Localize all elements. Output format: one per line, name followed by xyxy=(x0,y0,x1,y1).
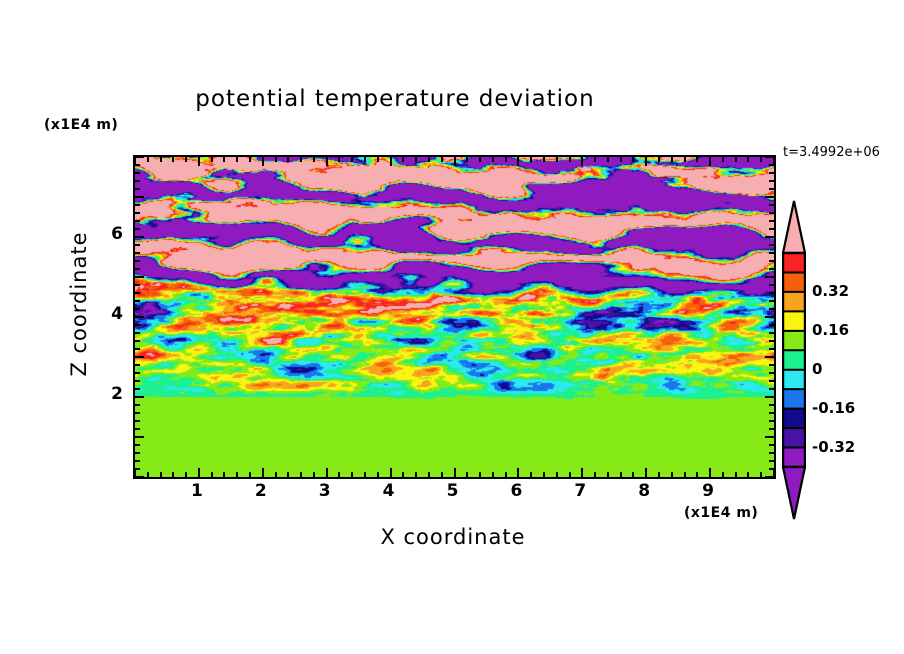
x-tick-label: 4 xyxy=(374,481,404,501)
colorbar-tick-label: 0.16 xyxy=(812,321,849,339)
colorbar[interactable] xyxy=(782,200,806,520)
y-tick-label: 2 xyxy=(93,384,123,404)
colorbar-tick-label: -0.16 xyxy=(812,399,855,417)
x-axis-unit-label: (x1E4 m) xyxy=(684,505,758,521)
y-tick-label: 4 xyxy=(93,304,123,324)
y-axis-unit-label: (x1E4 m) xyxy=(44,117,118,133)
x-tick-label: 5 xyxy=(438,481,468,501)
x-tick-label: 3 xyxy=(310,481,340,501)
x-axis-title: X coordinate xyxy=(253,525,653,549)
x-tick-label: 2 xyxy=(246,481,276,501)
page-title: potential temperature deviation xyxy=(0,86,790,112)
colorbar-tick-label: -0.32 xyxy=(812,438,855,456)
x-tick-label: 8 xyxy=(629,481,659,501)
time-stamp-label: t=3.4992e+06 xyxy=(783,145,880,160)
contour-field-canvas xyxy=(135,157,774,477)
x-tick-label: 6 xyxy=(501,481,531,501)
x-tick-label: 7 xyxy=(565,481,595,501)
x-tick-label: 9 xyxy=(693,481,723,501)
contour-plot-area[interactable] xyxy=(133,155,776,479)
y-tick-label: 6 xyxy=(93,224,123,244)
x-tick-label: 1 xyxy=(182,481,212,501)
colorbar-tick-label: 0.32 xyxy=(812,282,849,300)
colorbar-swatches xyxy=(782,200,806,520)
colorbar-tick-label: 0 xyxy=(812,360,822,378)
y-axis-title: Z coordinate xyxy=(67,204,91,404)
